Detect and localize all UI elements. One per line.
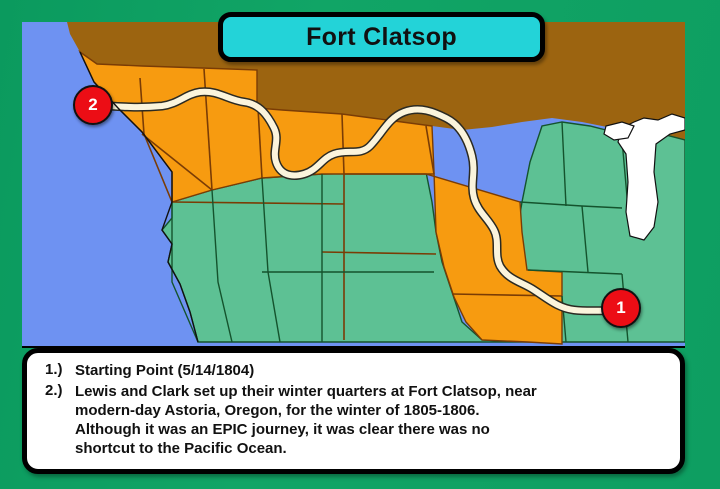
caption-number: 1.) xyxy=(41,361,75,378)
map-marker-label: 2 xyxy=(88,95,97,115)
caption-line: Starting Point (5/14/1804) xyxy=(75,361,254,380)
slide-root: Fort Clatsop 2 1 1.) Starting Point (5/1… xyxy=(0,0,720,489)
title-banner: Fort Clatsop xyxy=(218,12,545,62)
caption-line: Although it was an EPIC journey, it was … xyxy=(75,420,537,439)
caption-box: 1.) Starting Point (5/14/1804) 2.) Lewis… xyxy=(22,348,685,474)
map-marker-fort-clatsop[interactable]: 2 xyxy=(73,85,113,125)
caption-line: modern-day Astoria, Oregon, for the wint… xyxy=(75,401,537,420)
map-container[interactable] xyxy=(22,22,685,346)
usa-map-svg xyxy=(22,22,685,346)
caption-text: Lewis and Clark set up their winter quar… xyxy=(75,382,537,458)
caption-number: 2.) xyxy=(41,382,75,399)
caption-text: Starting Point (5/14/1804) xyxy=(75,361,254,380)
page-title: Fort Clatsop xyxy=(306,23,457,52)
map-marker-label: 1 xyxy=(616,298,625,318)
caption-line: shortcut to the Pacific Ocean. xyxy=(75,439,537,458)
caption-line: Lewis and Clark set up their winter quar… xyxy=(75,382,537,401)
caption-item-2: 2.) Lewis and Clark set up their winter … xyxy=(41,382,666,458)
map-marker-starting-point[interactable]: 1 xyxy=(601,288,641,328)
caption-item-1: 1.) Starting Point (5/14/1804) xyxy=(41,361,666,380)
